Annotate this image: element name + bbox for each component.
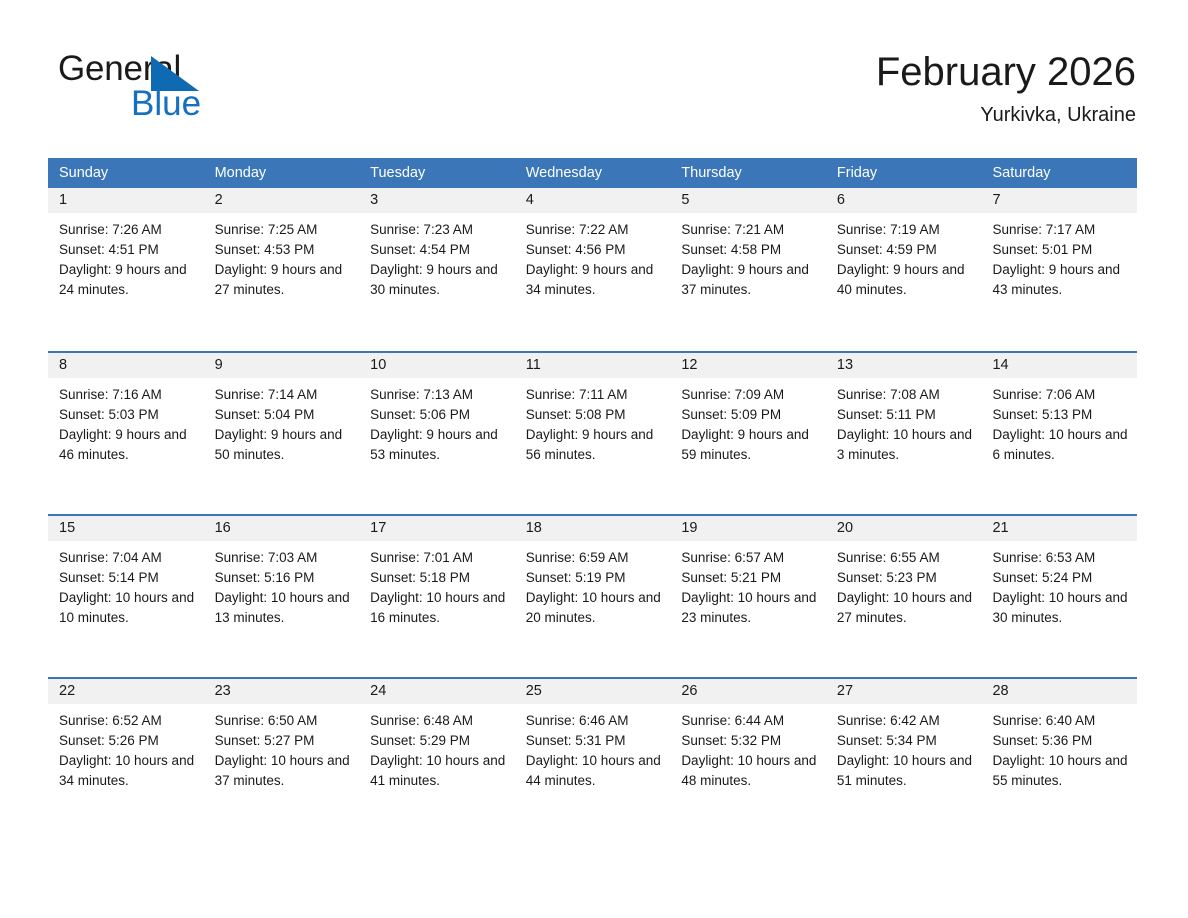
day-details: Sunrise: 7:03 AMSunset: 5:16 PMDaylight:… <box>204 541 360 628</box>
calendar-week-row: 1Sunrise: 7:26 AMSunset: 4:51 PMDaylight… <box>48 188 1137 351</box>
day-number-band: 12 <box>670 353 826 378</box>
sunrise-text: Sunrise: 7:13 AM <box>370 385 507 405</box>
daylight-text: Daylight: 9 hours and 53 minutes. <box>370 425 507 465</box>
daylight-text: Daylight: 9 hours and 59 minutes. <box>681 425 818 465</box>
day-number: 28 <box>981 679 1137 704</box>
sunrise-text: Sunrise: 7:23 AM <box>370 220 507 240</box>
calendar-day-cell[interactable]: 19Sunrise: 6:57 AMSunset: 5:21 PMDayligh… <box>670 516 826 677</box>
day-number: 13 <box>826 353 982 378</box>
day-number: 20 <box>826 516 982 541</box>
day-number-band: 3 <box>359 188 515 213</box>
day-number: 19 <box>670 516 826 541</box>
sunset-text: Sunset: 5:34 PM <box>837 731 974 751</box>
sunset-text: Sunset: 5:19 PM <box>526 568 663 588</box>
weekday-header-tuesday: Tuesday <box>359 158 515 188</box>
day-number-band: 28 <box>981 679 1137 704</box>
calendar-day-cell[interactable]: 14Sunrise: 7:06 AMSunset: 5:13 PMDayligh… <box>981 353 1137 514</box>
day-number-band: 9 <box>204 353 360 378</box>
day-number-band: 16 <box>204 516 360 541</box>
day-details: Sunrise: 7:06 AMSunset: 5:13 PMDaylight:… <box>981 378 1137 465</box>
day-details: Sunrise: 6:57 AMSunset: 5:21 PMDaylight:… <box>670 541 826 628</box>
day-number: 3 <box>359 188 515 213</box>
daylight-text: Daylight: 10 hours and 55 minutes. <box>992 751 1129 791</box>
sunrise-text: Sunrise: 7:16 AM <box>59 385 196 405</box>
day-number: 4 <box>515 188 671 213</box>
calendar-day-cell[interactable]: 24Sunrise: 6:48 AMSunset: 5:29 PMDayligh… <box>359 679 515 840</box>
day-details: Sunrise: 7:19 AMSunset: 4:59 PMDaylight:… <box>826 213 982 300</box>
weekday-header-sunday: Sunday <box>48 158 204 188</box>
sunrise-text: Sunrise: 6:44 AM <box>681 711 818 731</box>
day-details: Sunrise: 6:44 AMSunset: 5:32 PMDaylight:… <box>670 704 826 791</box>
daylight-text: Daylight: 9 hours and 46 minutes. <box>59 425 196 465</box>
day-number: 10 <box>359 353 515 378</box>
calendar-day-cell[interactable]: 15Sunrise: 7:04 AMSunset: 5:14 PMDayligh… <box>48 516 204 677</box>
day-details: Sunrise: 7:26 AMSunset: 4:51 PMDaylight:… <box>48 213 204 300</box>
day-number-band: 15 <box>48 516 204 541</box>
sunrise-text: Sunrise: 7:04 AM <box>59 548 196 568</box>
day-number: 17 <box>359 516 515 541</box>
calendar-day-cell[interactable]: 16Sunrise: 7:03 AMSunset: 5:16 PMDayligh… <box>204 516 360 677</box>
sunset-text: Sunset: 5:01 PM <box>992 240 1129 260</box>
day-number-band: 26 <box>670 679 826 704</box>
day-number: 22 <box>48 679 204 704</box>
day-number: 7 <box>981 188 1137 213</box>
daylight-text: Daylight: 10 hours and 20 minutes. <box>526 588 663 628</box>
sunset-text: Sunset: 5:32 PM <box>681 731 818 751</box>
daylight-text: Daylight: 9 hours and 40 minutes. <box>837 260 974 300</box>
sunset-text: Sunset: 5:27 PM <box>215 731 352 751</box>
sunset-text: Sunset: 5:36 PM <box>992 731 1129 751</box>
day-number-band: 7 <box>981 188 1137 213</box>
day-number-band: 10 <box>359 353 515 378</box>
day-details: Sunrise: 7:16 AMSunset: 5:03 PMDaylight:… <box>48 378 204 465</box>
sunset-text: Sunset: 4:58 PM <box>681 240 818 260</box>
day-number: 9 <box>204 353 360 378</box>
sunset-text: Sunset: 5:31 PM <box>526 731 663 751</box>
day-details: Sunrise: 7:25 AMSunset: 4:53 PMDaylight:… <box>204 213 360 300</box>
calendar-day-cell[interactable]: 2Sunrise: 7:25 AMSunset: 4:53 PMDaylight… <box>204 188 360 351</box>
day-number-band: 19 <box>670 516 826 541</box>
weekday-header-thursday: Thursday <box>670 158 826 188</box>
calendar-week-row: 15Sunrise: 7:04 AMSunset: 5:14 PMDayligh… <box>48 514 1137 677</box>
calendar-table: Sunday Monday Tuesday Wednesday Thursday… <box>48 158 1137 840</box>
daylight-text: Daylight: 10 hours and 16 minutes. <box>370 588 507 628</box>
day-number-band: 5 <box>670 188 826 213</box>
calendar-day-cell[interactable]: 17Sunrise: 7:01 AMSunset: 5:18 PMDayligh… <box>359 516 515 677</box>
calendar-day-cell[interactable]: 3Sunrise: 7:23 AMSunset: 4:54 PMDaylight… <box>359 188 515 351</box>
sunrise-text: Sunrise: 7:11 AM <box>526 385 663 405</box>
day-number-band: 14 <box>981 353 1137 378</box>
calendar-day-cell[interactable]: 28Sunrise: 6:40 AMSunset: 5:36 PMDayligh… <box>981 679 1137 840</box>
day-number: 15 <box>48 516 204 541</box>
weekday-header-saturday: Saturday <box>981 158 1137 188</box>
sunset-text: Sunset: 4:54 PM <box>370 240 507 260</box>
sunrise-text: Sunrise: 7:03 AM <box>215 548 352 568</box>
day-details: Sunrise: 6:52 AMSunset: 5:26 PMDaylight:… <box>48 704 204 791</box>
day-number: 6 <box>826 188 982 213</box>
sunset-text: Sunset: 5:26 PM <box>59 731 196 751</box>
day-number: 24 <box>359 679 515 704</box>
day-number: 21 <box>981 516 1137 541</box>
day-number-band: 27 <box>826 679 982 704</box>
sunrise-text: Sunrise: 6:42 AM <box>837 711 974 731</box>
daylight-text: Daylight: 9 hours and 34 minutes. <box>526 260 663 300</box>
day-details: Sunrise: 7:04 AMSunset: 5:14 PMDaylight:… <box>48 541 204 628</box>
weekday-header-wednesday: Wednesday <box>515 158 671 188</box>
calendar-page: General Blue February 2026 Yurkivka, Ukr… <box>0 0 1188 918</box>
weekday-header-friday: Friday <box>826 158 982 188</box>
title-block: February 2026 Yurkivka, Ukraine <box>876 48 1136 127</box>
daylight-text: Daylight: 10 hours and 3 minutes. <box>837 425 974 465</box>
brand-logo[interactable]: General Blue <box>58 50 318 130</box>
day-number-band: 11 <box>515 353 671 378</box>
sunset-text: Sunset: 5:11 PM <box>837 405 974 425</box>
daylight-text: Daylight: 10 hours and 30 minutes. <box>992 588 1129 628</box>
day-number: 26 <box>670 679 826 704</box>
calendar-day-cell[interactable]: 22Sunrise: 6:52 AMSunset: 5:26 PMDayligh… <box>48 679 204 840</box>
calendar-day-cell[interactable]: 27Sunrise: 6:42 AMSunset: 5:34 PMDayligh… <box>826 679 982 840</box>
daylight-text: Daylight: 10 hours and 13 minutes. <box>215 588 352 628</box>
sunrise-text: Sunrise: 7:21 AM <box>681 220 818 240</box>
sunset-text: Sunset: 5:13 PM <box>992 405 1129 425</box>
sunset-text: Sunset: 5:04 PM <box>215 405 352 425</box>
day-details: Sunrise: 7:01 AMSunset: 5:18 PMDaylight:… <box>359 541 515 628</box>
day-number: 25 <box>515 679 671 704</box>
day-details: Sunrise: 7:09 AMSunset: 5:09 PMDaylight:… <box>670 378 826 465</box>
sunrise-text: Sunrise: 7:19 AM <box>837 220 974 240</box>
day-number-band: 20 <box>826 516 982 541</box>
sunset-text: Sunset: 5:08 PM <box>526 405 663 425</box>
day-number: 2 <box>204 188 360 213</box>
sunrise-text: Sunrise: 6:57 AM <box>681 548 818 568</box>
day-number-band: 6 <box>826 188 982 213</box>
calendar-week-row: 8Sunrise: 7:16 AMSunset: 5:03 PMDaylight… <box>48 351 1137 514</box>
day-details: Sunrise: 6:55 AMSunset: 5:23 PMDaylight:… <box>826 541 982 628</box>
daylight-text: Daylight: 10 hours and 51 minutes. <box>837 751 974 791</box>
day-number: 5 <box>670 188 826 213</box>
day-number-band: 23 <box>204 679 360 704</box>
calendar-day-cell[interactable]: 26Sunrise: 6:44 AMSunset: 5:32 PMDayligh… <box>670 679 826 840</box>
weekday-header-row: Sunday Monday Tuesday Wednesday Thursday… <box>48 158 1137 188</box>
calendar-day-cell[interactable]: 5Sunrise: 7:21 AMSunset: 4:58 PMDaylight… <box>670 188 826 351</box>
day-details: Sunrise: 7:17 AMSunset: 5:01 PMDaylight:… <box>981 213 1137 300</box>
calendar-day-cell[interactable]: 25Sunrise: 6:46 AMSunset: 5:31 PMDayligh… <box>515 679 671 840</box>
sunset-text: Sunset: 4:59 PM <box>837 240 974 260</box>
calendar-day-cell[interactable]: 9Sunrise: 7:14 AMSunset: 5:04 PMDaylight… <box>204 353 360 514</box>
daylight-text: Daylight: 10 hours and 44 minutes. <box>526 751 663 791</box>
calendar-day-cell[interactable]: 12Sunrise: 7:09 AMSunset: 5:09 PMDayligh… <box>670 353 826 514</box>
day-number-band: 18 <box>515 516 671 541</box>
sunset-text: Sunset: 5:29 PM <box>370 731 507 751</box>
sunset-text: Sunset: 5:18 PM <box>370 568 507 588</box>
day-number-band: 22 <box>48 679 204 704</box>
sunset-text: Sunset: 5:09 PM <box>681 405 818 425</box>
day-number: 18 <box>515 516 671 541</box>
calendar-day-cell[interactable]: 10Sunrise: 7:13 AMSunset: 5:06 PMDayligh… <box>359 353 515 514</box>
sunrise-text: Sunrise: 7:25 AM <box>215 220 352 240</box>
daylight-text: Daylight: 10 hours and 41 minutes. <box>370 751 507 791</box>
sunrise-text: Sunrise: 6:59 AM <box>526 548 663 568</box>
day-number: 27 <box>826 679 982 704</box>
calendar-week-row: 22Sunrise: 6:52 AMSunset: 5:26 PMDayligh… <box>48 677 1137 840</box>
daylight-text: Daylight: 10 hours and 10 minutes. <box>59 588 196 628</box>
sunset-text: Sunset: 4:53 PM <box>215 240 352 260</box>
day-details: Sunrise: 6:46 AMSunset: 5:31 PMDaylight:… <box>515 704 671 791</box>
page-header: General Blue February 2026 Yurkivka, Ukr… <box>0 0 1188 150</box>
day-details: Sunrise: 7:14 AMSunset: 5:04 PMDaylight:… <box>204 378 360 465</box>
calendar-day-cell[interactable]: 1Sunrise: 7:26 AMSunset: 4:51 PMDaylight… <box>48 188 204 351</box>
day-details: Sunrise: 7:13 AMSunset: 5:06 PMDaylight:… <box>359 378 515 465</box>
sunrise-text: Sunrise: 6:48 AM <box>370 711 507 731</box>
day-details: Sunrise: 6:40 AMSunset: 5:36 PMDaylight:… <box>981 704 1137 791</box>
sunset-text: Sunset: 5:16 PM <box>215 568 352 588</box>
sunrise-text: Sunrise: 6:46 AM <box>526 711 663 731</box>
day-details: Sunrise: 6:59 AMSunset: 5:19 PMDaylight:… <box>515 541 671 628</box>
sunset-text: Sunset: 5:03 PM <box>59 405 196 425</box>
daylight-text: Daylight: 10 hours and 6 minutes. <box>992 425 1129 465</box>
day-number: 23 <box>204 679 360 704</box>
day-number-band: 21 <box>981 516 1137 541</box>
sunrise-text: Sunrise: 7:09 AM <box>681 385 818 405</box>
calendar-day-cell[interactable]: 13Sunrise: 7:08 AMSunset: 5:11 PMDayligh… <box>826 353 982 514</box>
day-details: Sunrise: 6:48 AMSunset: 5:29 PMDaylight:… <box>359 704 515 791</box>
daylight-text: Daylight: 10 hours and 48 minutes. <box>681 751 818 791</box>
day-number-band: 1 <box>48 188 204 213</box>
sunset-text: Sunset: 5:06 PM <box>370 405 507 425</box>
day-details: Sunrise: 7:11 AMSunset: 5:08 PMDaylight:… <box>515 378 671 465</box>
daylight-text: Daylight: 9 hours and 50 minutes. <box>215 425 352 465</box>
sunrise-text: Sunrise: 6:50 AM <box>215 711 352 731</box>
daylight-text: Daylight: 9 hours and 30 minutes. <box>370 260 507 300</box>
daylight-text: Daylight: 9 hours and 37 minutes. <box>681 260 818 300</box>
calendar-day-cell[interactable]: 21Sunrise: 6:53 AMSunset: 5:24 PMDayligh… <box>981 516 1137 677</box>
sunset-text: Sunset: 4:51 PM <box>59 240 196 260</box>
day-number: 12 <box>670 353 826 378</box>
sunrise-text: Sunrise: 6:55 AM <box>837 548 974 568</box>
brand-name-blue: Blue <box>131 85 201 123</box>
day-number: 14 <box>981 353 1137 378</box>
calendar-day-cell[interactable]: 8Sunrise: 7:16 AMSunset: 5:03 PMDaylight… <box>48 353 204 514</box>
day-number-band: 24 <box>359 679 515 704</box>
day-details: Sunrise: 7:08 AMSunset: 5:11 PMDaylight:… <box>826 378 982 465</box>
calendar-day-cell[interactable]: 4Sunrise: 7:22 AMSunset: 4:56 PMDaylight… <box>515 188 671 351</box>
calendar-day-cell[interactable]: 23Sunrise: 6:50 AMSunset: 5:27 PMDayligh… <box>204 679 360 840</box>
day-number-band: 8 <box>48 353 204 378</box>
day-details: Sunrise: 6:50 AMSunset: 5:27 PMDaylight:… <box>204 704 360 791</box>
sunset-text: Sunset: 5:21 PM <box>681 568 818 588</box>
daylight-text: Daylight: 9 hours and 24 minutes. <box>59 260 196 300</box>
daylight-text: Daylight: 10 hours and 23 minutes. <box>681 588 818 628</box>
sunrise-text: Sunrise: 6:52 AM <box>59 711 196 731</box>
sunrise-text: Sunrise: 7:14 AM <box>215 385 352 405</box>
daylight-text: Daylight: 9 hours and 27 minutes. <box>215 260 352 300</box>
day-number: 1 <box>48 188 204 213</box>
day-number: 8 <box>48 353 204 378</box>
daylight-text: Daylight: 10 hours and 37 minutes. <box>215 751 352 791</box>
sunrise-text: Sunrise: 6:53 AM <box>992 548 1129 568</box>
daylight-text: Daylight: 10 hours and 34 minutes. <box>59 751 196 791</box>
sunrise-text: Sunrise: 7:22 AM <box>526 220 663 240</box>
sunset-text: Sunset: 4:56 PM <box>526 240 663 260</box>
sunrise-text: Sunrise: 7:17 AM <box>992 220 1129 240</box>
daylight-text: Daylight: 10 hours and 27 minutes. <box>837 588 974 628</box>
calendar-day-cell[interactable]: 20Sunrise: 6:55 AMSunset: 5:23 PMDayligh… <box>826 516 982 677</box>
sunset-text: Sunset: 5:14 PM <box>59 568 196 588</box>
weekday-header-monday: Monday <box>204 158 360 188</box>
sunset-text: Sunset: 5:23 PM <box>837 568 974 588</box>
sunrise-text: Sunrise: 6:40 AM <box>992 711 1129 731</box>
sunset-text: Sunset: 5:24 PM <box>992 568 1129 588</box>
sunrise-text: Sunrise: 7:01 AM <box>370 548 507 568</box>
day-number-band: 17 <box>359 516 515 541</box>
sunrise-text: Sunrise: 7:06 AM <box>992 385 1129 405</box>
day-number-band: 4 <box>515 188 671 213</box>
daylight-text: Daylight: 9 hours and 43 minutes. <box>992 260 1129 300</box>
day-number: 16 <box>204 516 360 541</box>
calendar-day-cell[interactable]: 6Sunrise: 7:19 AMSunset: 4:59 PMDaylight… <box>826 188 982 351</box>
day-number: 11 <box>515 353 671 378</box>
day-details: Sunrise: 7:21 AMSunset: 4:58 PMDaylight:… <box>670 213 826 300</box>
calendar-day-cell[interactable]: 18Sunrise: 6:59 AMSunset: 5:19 PMDayligh… <box>515 516 671 677</box>
sunrise-text: Sunrise: 7:26 AM <box>59 220 196 240</box>
location-subtitle: Yurkivka, Ukraine <box>876 103 1136 127</box>
day-details: Sunrise: 7:23 AMSunset: 4:54 PMDaylight:… <box>359 213 515 300</box>
page-title: February 2026 <box>876 48 1136 96</box>
day-number-band: 13 <box>826 353 982 378</box>
calendar-day-cell[interactable]: 11Sunrise: 7:11 AMSunset: 5:08 PMDayligh… <box>515 353 671 514</box>
day-number-band: 2 <box>204 188 360 213</box>
day-details: Sunrise: 7:22 AMSunset: 4:56 PMDaylight:… <box>515 213 671 300</box>
day-details: Sunrise: 6:42 AMSunset: 5:34 PMDaylight:… <box>826 704 982 791</box>
calendar-weeks: 1Sunrise: 7:26 AMSunset: 4:51 PMDaylight… <box>48 188 1137 840</box>
sunrise-text: Sunrise: 7:08 AM <box>837 385 974 405</box>
day-number-band: 25 <box>515 679 671 704</box>
day-details: Sunrise: 6:53 AMSunset: 5:24 PMDaylight:… <box>981 541 1137 628</box>
calendar-day-cell[interactable]: 7Sunrise: 7:17 AMSunset: 5:01 PMDaylight… <box>981 188 1137 351</box>
daylight-text: Daylight: 9 hours and 56 minutes. <box>526 425 663 465</box>
